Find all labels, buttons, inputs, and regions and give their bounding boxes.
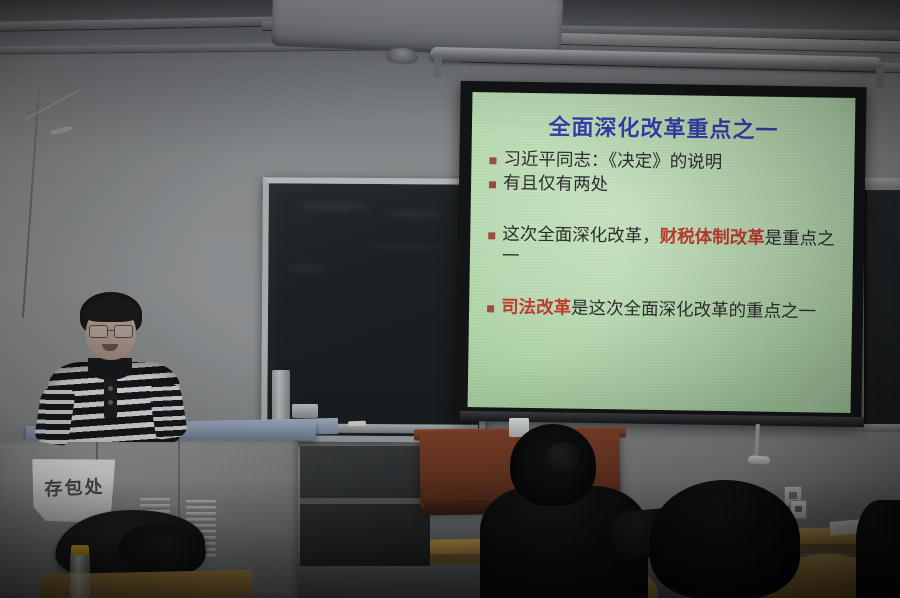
shirt-button: [108, 400, 113, 405]
student-hair: [650, 480, 800, 598]
slide-bullet-segment: 有且仅有两处: [503, 174, 608, 196]
lecturer-collar: [88, 358, 132, 380]
water-bottle-cap[interactable]: [71, 545, 89, 555]
paper-sign-text: 存包处: [32, 472, 116, 502]
roller-bracket: [434, 56, 442, 78]
glasses-icon: [89, 325, 133, 336]
slide-bullet: 这次全面深化改革，财税体制改革是重点之一: [486, 223, 844, 273]
cabinet-recess: [300, 446, 430, 566]
chalk-smudge: [299, 201, 369, 210]
blackboard-right: [864, 190, 900, 425]
slide-bullet-segment: 是这次全面深化改革的重点之一: [571, 298, 816, 322]
chalk-smudge: [288, 265, 326, 271]
wall-hook-base: [748, 455, 770, 464]
slide-bullet-highlight: 财税体制改革: [660, 227, 765, 249]
classroom-photo: 全面深化改革重点之一 习近平同志：《决定》的说明有且仅有两处这次全面深化改革，财…: [0, 0, 900, 598]
student-far-right: [856, 500, 900, 598]
student-front-right: [650, 480, 840, 598]
cabinet-shelf: [300, 498, 430, 504]
shirt-button: [108, 386, 113, 391]
slide-title: 全面深化改革重点之一: [472, 108, 855, 146]
slide-bullet-highlight: 司法改革: [501, 297, 571, 318]
roller-bracket: [876, 66, 884, 88]
slide-bullet-segment: 习近平同志：《决定》的说明: [503, 150, 722, 173]
desk-small-object: [292, 404, 318, 418]
chalk-stick[interactable]: [348, 421, 366, 427]
slide-bullet: 有且仅有两处: [487, 173, 844, 201]
lecturer-placket: [104, 378, 117, 418]
blackboard-right-frame: [864, 178, 900, 189]
slide-bullet: 习近平同志：《决定》的说明: [487, 148, 844, 176]
chalk-smudge: [364, 244, 444, 250]
slide-bullet-list: 习近平同志：《决定》的说明有且仅有两处这次全面深化改革，财税体制改革是重点之一司…: [485, 148, 845, 326]
water-bottle[interactable]: [70, 552, 90, 598]
chalk-smudge: [387, 210, 443, 217]
bullet-square-icon: [487, 305, 494, 312]
projection-screen[interactable]: 全面深化改革重点之一 习近平同志：《决定》的说明有且仅有两处这次全面深化改革，财…: [455, 81, 866, 425]
bullet-square-icon: [489, 182, 496, 189]
slide-bullet-text: 习近平同志：《决定》的说明: [503, 149, 844, 177]
blackboard-right-tray: [862, 424, 900, 432]
lecturer: [34, 292, 184, 440]
bullet-square-icon: [488, 232, 495, 239]
lecturer-fringe: [82, 300, 140, 322]
student-front-left: [480, 424, 660, 598]
slide-bullet-segment: 这次全面深化改革，: [502, 224, 660, 246]
bullet-square-icon: [489, 157, 496, 164]
slide-bullet: 司法改革是这次全面深化改革的重点之一: [485, 296, 842, 324]
slide-bullet-text: 司法改革是这次全面深化改革的重点之一: [501, 296, 842, 324]
student-hair-bun: [546, 442, 580, 474]
desk-cylinder-object: [272, 370, 290, 422]
presentation-slide: 全面深化改革重点之一 习近平同志：《决定》的说明有且仅有两处这次全面深化改革，财…: [468, 92, 856, 413]
blackboard: [261, 177, 487, 443]
slide-bullet-text: 这次全面深化改革，财税体制改革是重点之一: [502, 223, 844, 273]
slide-bullet-text: 有且仅有两处: [503, 173, 844, 201]
